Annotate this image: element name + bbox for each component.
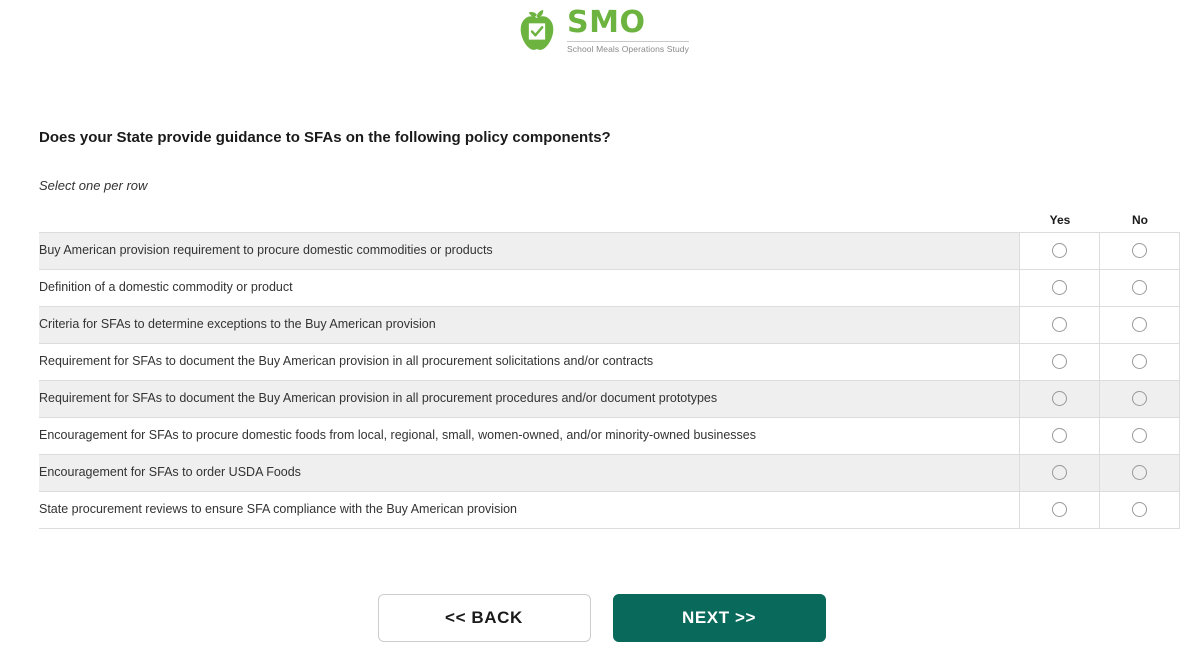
radio-cell-no[interactable]: [1100, 491, 1180, 528]
table-row: Requirement for SFAs to document the Buy…: [39, 380, 1180, 417]
radio-cell-no[interactable]: [1100, 232, 1180, 269]
radio-cell-no[interactable]: [1100, 306, 1180, 343]
radio-cell-no[interactable]: [1100, 343, 1180, 380]
row-label: Definition of a domestic commodity or pr…: [39, 269, 1020, 306]
row-label: Requirement for SFAs to document the Buy…: [39, 380, 1020, 417]
radio-button-no[interactable]: [1132, 502, 1147, 517]
logo-title: SMO: [567, 8, 689, 38]
table-row: State procurement reviews to ensure SFA …: [39, 491, 1180, 528]
radio-button-no[interactable]: [1132, 354, 1147, 369]
radio-button-no[interactable]: [1132, 428, 1147, 443]
table-row: Criteria for SFAs to determine exception…: [39, 306, 1180, 343]
logo-wordmark: SMO School Meals Operations Study: [567, 8, 689, 54]
radio-cell-no[interactable]: [1100, 269, 1180, 306]
radio-button-yes[interactable]: [1052, 243, 1067, 258]
radio-cell-yes[interactable]: [1020, 343, 1100, 380]
radio-cell-yes[interactable]: [1020, 417, 1100, 454]
apple-checkmark-icon: [514, 8, 560, 54]
radio-cell-no[interactable]: [1100, 454, 1180, 491]
radio-cell-yes[interactable]: [1020, 269, 1100, 306]
row-label: Criteria for SFAs to determine exception…: [39, 306, 1020, 343]
table-row: Encouragement for SFAs to order USDA Foo…: [39, 454, 1180, 491]
radio-button-yes[interactable]: [1052, 502, 1067, 517]
radio-cell-yes[interactable]: [1020, 306, 1100, 343]
question-instruction: Select one per row: [39, 148, 1180, 193]
row-label: Encouragement for SFAs to order USDA Foo…: [39, 454, 1020, 491]
radio-cell-yes[interactable]: [1020, 380, 1100, 417]
logo-header: SMO School Meals Operations Study: [0, 0, 1203, 54]
radio-button-yes[interactable]: [1052, 280, 1067, 295]
radio-cell-no[interactable]: [1100, 380, 1180, 417]
table-row: Requirement for SFAs to document the Buy…: [39, 343, 1180, 380]
survey-page: SMO School Meals Operations Study Does y…: [0, 0, 1203, 672]
matrix-column-headers: Yes No: [39, 213, 1180, 232]
radio-button-no[interactable]: [1132, 465, 1147, 480]
table-row: Buy American provision requirement to pr…: [39, 232, 1180, 269]
radio-button-no[interactable]: [1132, 280, 1147, 295]
column-header-no: No: [1100, 213, 1180, 227]
smo-logo: SMO School Meals Operations Study: [514, 8, 689, 54]
radio-cell-yes[interactable]: [1020, 454, 1100, 491]
back-button[interactable]: << BACK: [378, 594, 591, 642]
radio-button-yes[interactable]: [1052, 317, 1067, 332]
radio-button-no[interactable]: [1132, 391, 1147, 406]
question-title: Does your State provide guidance to SFAs…: [39, 128, 1180, 148]
radio-button-yes[interactable]: [1052, 354, 1067, 369]
radio-button-yes[interactable]: [1052, 391, 1067, 406]
logo-subtitle: School Meals Operations Study: [567, 41, 689, 54]
navigation-bar: << BACK NEXT >>: [0, 594, 1203, 642]
radio-button-no[interactable]: [1132, 243, 1147, 258]
column-header-yes: Yes: [1020, 213, 1100, 227]
radio-button-yes[interactable]: [1052, 465, 1067, 480]
row-label: Requirement for SFAs to document the Buy…: [39, 343, 1020, 380]
matrix-table: Buy American provision requirement to pr…: [39, 232, 1180, 529]
radio-cell-yes[interactable]: [1020, 232, 1100, 269]
row-label: Encouragement for SFAs to procure domest…: [39, 417, 1020, 454]
radio-cell-no[interactable]: [1100, 417, 1180, 454]
radio-button-no[interactable]: [1132, 317, 1147, 332]
table-row: Definition of a domestic commodity or pr…: [39, 269, 1180, 306]
table-row: Encouragement for SFAs to procure domest…: [39, 417, 1180, 454]
matrix-question: Yes No Buy American provision requiremen…: [39, 193, 1180, 529]
row-label: State procurement reviews to ensure SFA …: [39, 491, 1020, 528]
next-button[interactable]: NEXT >>: [613, 594, 826, 642]
survey-content: Does your State provide guidance to SFAs…: [39, 128, 1180, 529]
radio-cell-yes[interactable]: [1020, 491, 1100, 528]
row-label: Buy American provision requirement to pr…: [39, 232, 1020, 269]
radio-button-yes[interactable]: [1052, 428, 1067, 443]
